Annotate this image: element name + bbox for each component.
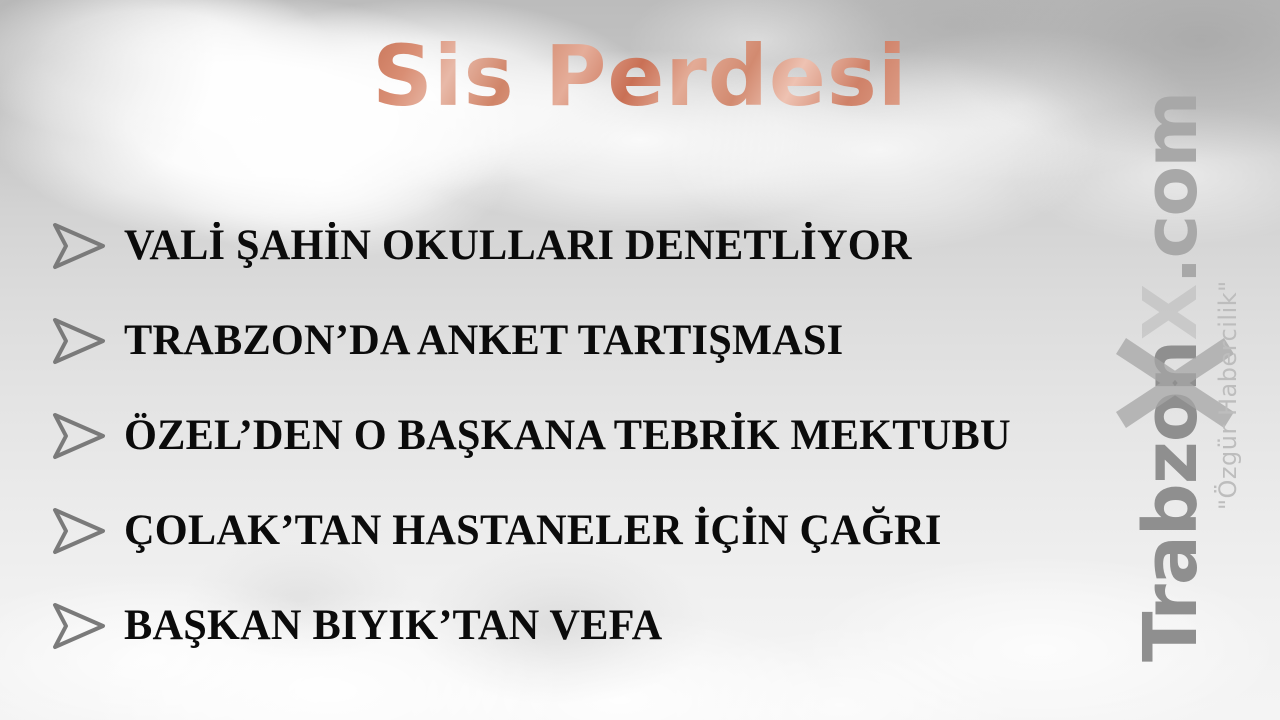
list-item[interactable]: ÇOLAK’TAN HASTANELER İÇİN ÇAĞRI bbox=[46, 483, 1166, 578]
list-item[interactable]: TRABZON’DA ANKET TARTIŞMASI bbox=[46, 293, 1166, 388]
send-arrow-icon bbox=[46, 503, 110, 559]
headline-text: TRABZON’DA ANKET TARTIŞMASI bbox=[124, 319, 843, 362]
list-item[interactable]: BAŞKAN BIYIK’TAN VEFA bbox=[46, 578, 1166, 673]
send-arrow-icon bbox=[46, 408, 110, 464]
list-item[interactable]: ÖZEL’DEN O BAŞKANA TEBRİK MEKTUBU bbox=[46, 388, 1166, 483]
page-title: Sis Perdesi bbox=[372, 34, 907, 120]
send-arrow-icon bbox=[46, 598, 110, 654]
headline-list: VALİ ŞAHİN OKULLARI DENETLİYOR TRABZON’D… bbox=[46, 198, 1166, 673]
headline-text: ÇOLAK’TAN HASTANELER İÇİN ÇAĞRI bbox=[124, 509, 942, 552]
send-arrow-icon bbox=[46, 218, 110, 274]
headline-text: BAŞKAN BIYIK’TAN VEFA bbox=[124, 604, 662, 647]
headline-text: VALİ ŞAHİN OKULLARI DENETLİYOR bbox=[124, 224, 912, 267]
slide-canvas: Sis Perdesi VALİ ŞAHİN OKULLARI DENETLİY… bbox=[0, 0, 1280, 720]
headline-text: ÖZEL’DEN O BAŞKANA TEBRİK MEKTUBU bbox=[124, 414, 1011, 457]
title-container: Sis Perdesi bbox=[0, 34, 1280, 120]
list-item[interactable]: VALİ ŞAHİN OKULLARI DENETLİYOR bbox=[46, 198, 1166, 293]
send-arrow-icon bbox=[46, 313, 110, 369]
